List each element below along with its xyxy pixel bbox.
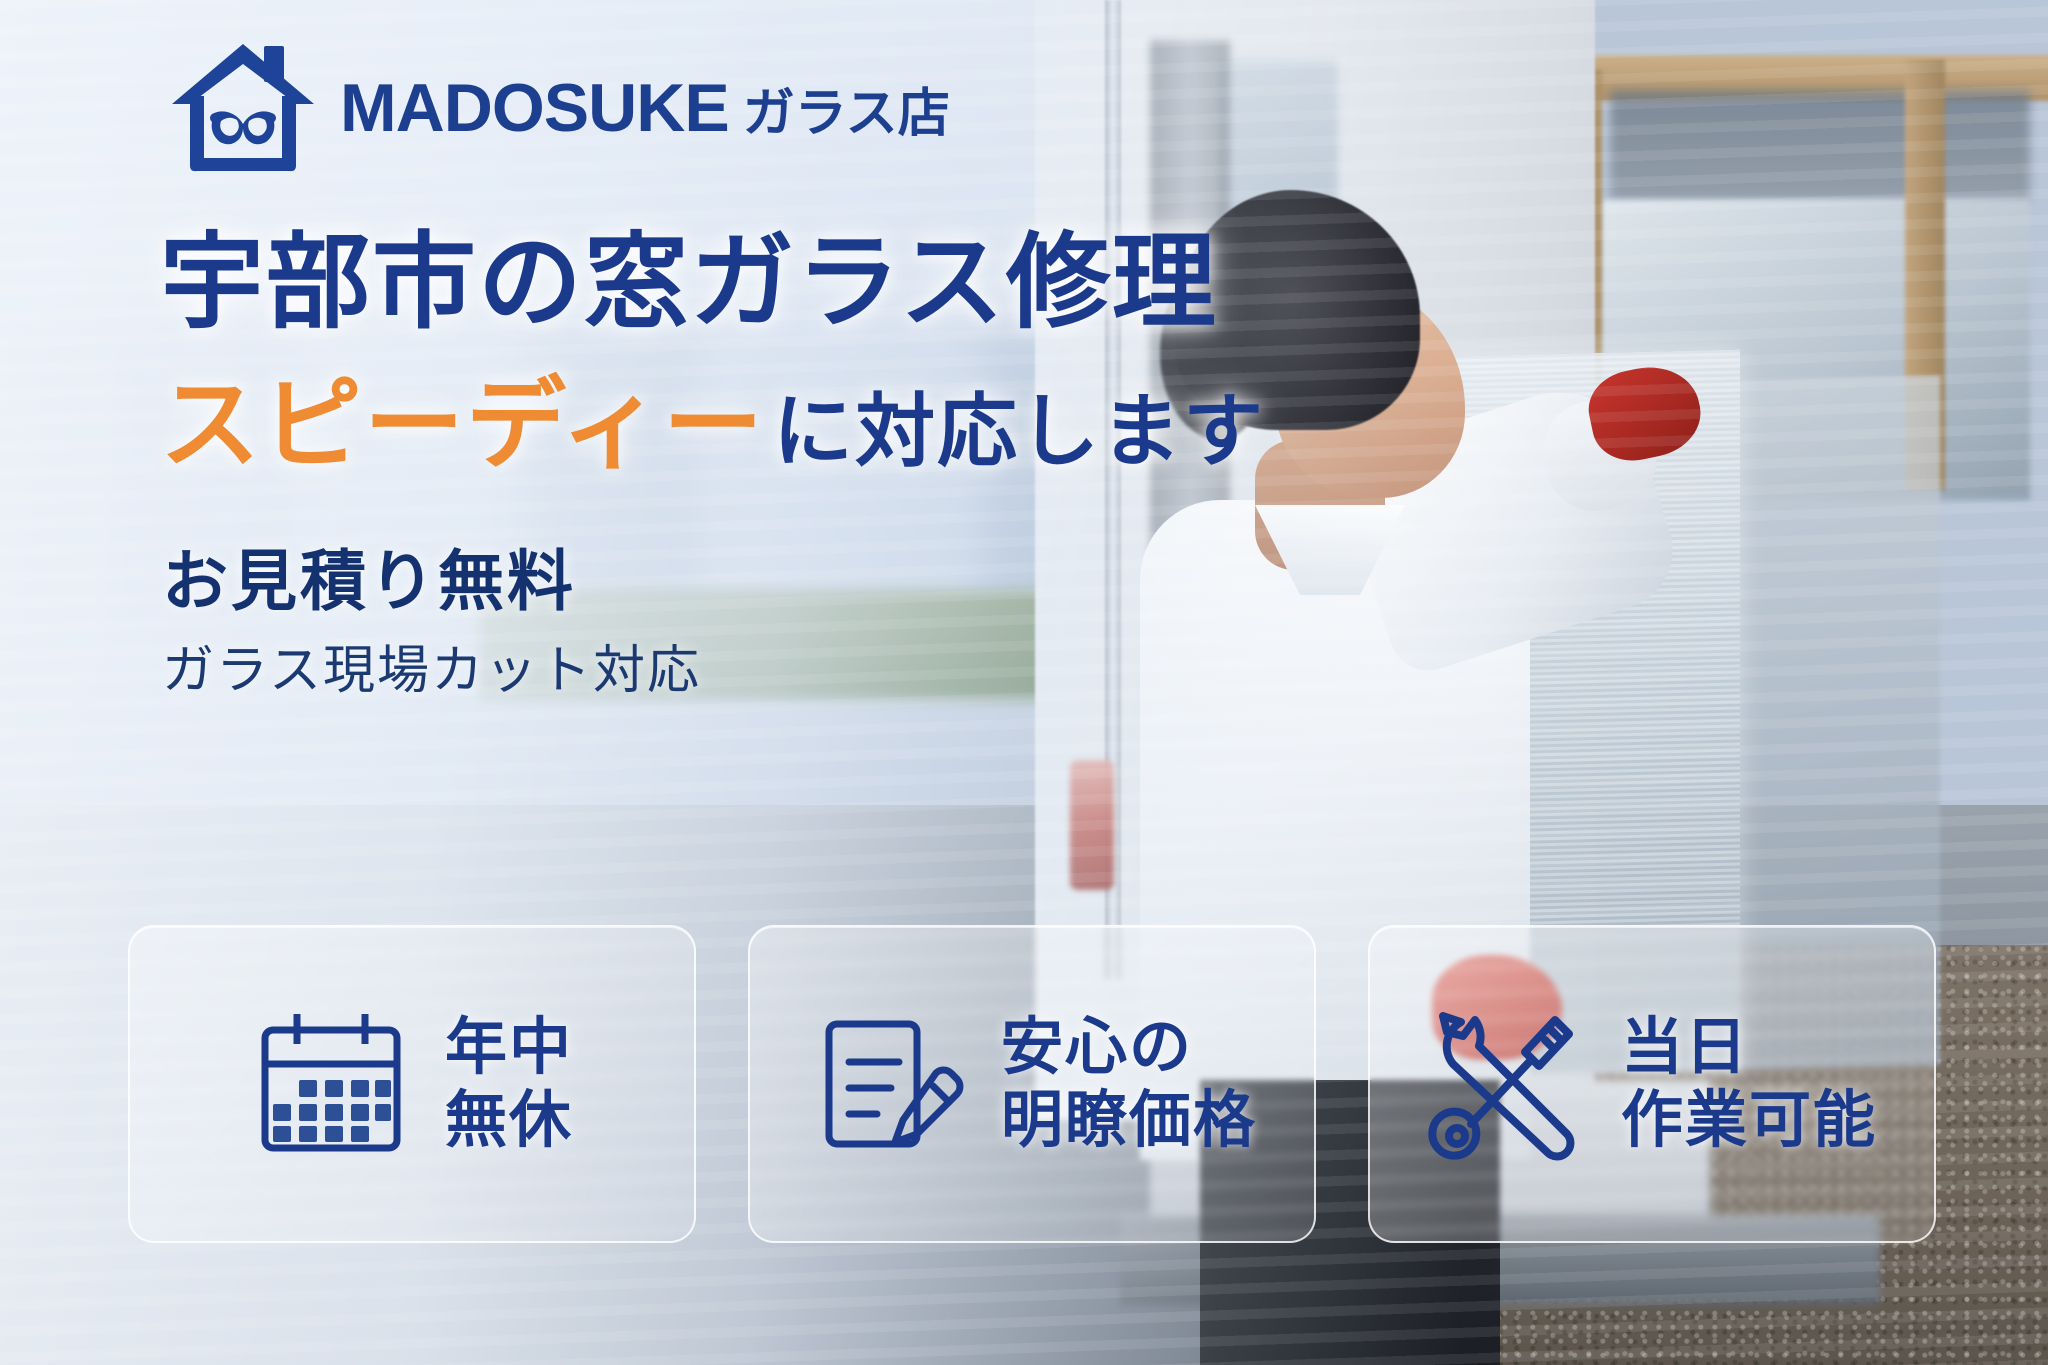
hero-headline-line1: 宇部市の窓ガラス修理 bbox=[160, 228, 1218, 338]
feature-label-line1: 年中 bbox=[445, 1013, 573, 1082]
feature-card-same-day[interactable]: 当日 作業可能 bbox=[1368, 925, 1936, 1243]
feature-label-line2: 作業可能 bbox=[1621, 1084, 1877, 1157]
hero-subtext-onsite-cut: ガラス現場カット対応 bbox=[162, 628, 701, 703]
feature-card-year-round[interactable]: 年中 無休 bbox=[128, 925, 696, 1243]
hero-content: MADOSUKE ガラス店 宇部市の窓ガラス修理 スピーディーに対応します お見… bbox=[0, 0, 2048, 1365]
hero-subtext-free-estimate: お見積り無料 bbox=[162, 528, 576, 624]
feature-card-label: 当日 作業可能 bbox=[1621, 1011, 1877, 1157]
brand-logo-text: MADOSUKE ガラス店 bbox=[340, 74, 950, 142]
wrench-screwdriver-icon bbox=[1427, 1004, 1587, 1164]
feature-label-line1: 当日 bbox=[1621, 1013, 1749, 1082]
hero-headline-rest: に対応します bbox=[773, 387, 1265, 476]
feature-label-line2: 明瞭価格 bbox=[1001, 1084, 1257, 1157]
hero-headline-line2: スピーディーに対応します bbox=[160, 372, 1265, 478]
brand-name: MADOSUKE bbox=[340, 74, 729, 142]
hero-banner: MADOSUKE ガラス店 宇部市の窓ガラス修理 スピーディーに対応します お見… bbox=[0, 0, 2048, 1365]
brand-logo[interactable]: MADOSUKE ガラス店 bbox=[168, 38, 950, 178]
feature-label-line2: 無休 bbox=[445, 1084, 573, 1157]
feature-card-label: 年中 無休 bbox=[445, 1011, 573, 1157]
calendar-icon bbox=[251, 1004, 411, 1164]
hero-headline-highlight: スピーディー bbox=[160, 369, 765, 481]
brand-suffix: ガラス店 bbox=[743, 88, 950, 140]
feature-label-line1: 安心の bbox=[1001, 1013, 1193, 1082]
feature-card-clear-pricing[interactable]: 安心の 明瞭価格 bbox=[748, 925, 1316, 1243]
feature-card-list: 年中 無休 bbox=[128, 925, 1936, 1243]
document-pencil-icon bbox=[807, 1004, 967, 1164]
house-glasses-logo-icon bbox=[168, 38, 318, 178]
feature-card-label: 安心の 明瞭価格 bbox=[1001, 1011, 1257, 1157]
